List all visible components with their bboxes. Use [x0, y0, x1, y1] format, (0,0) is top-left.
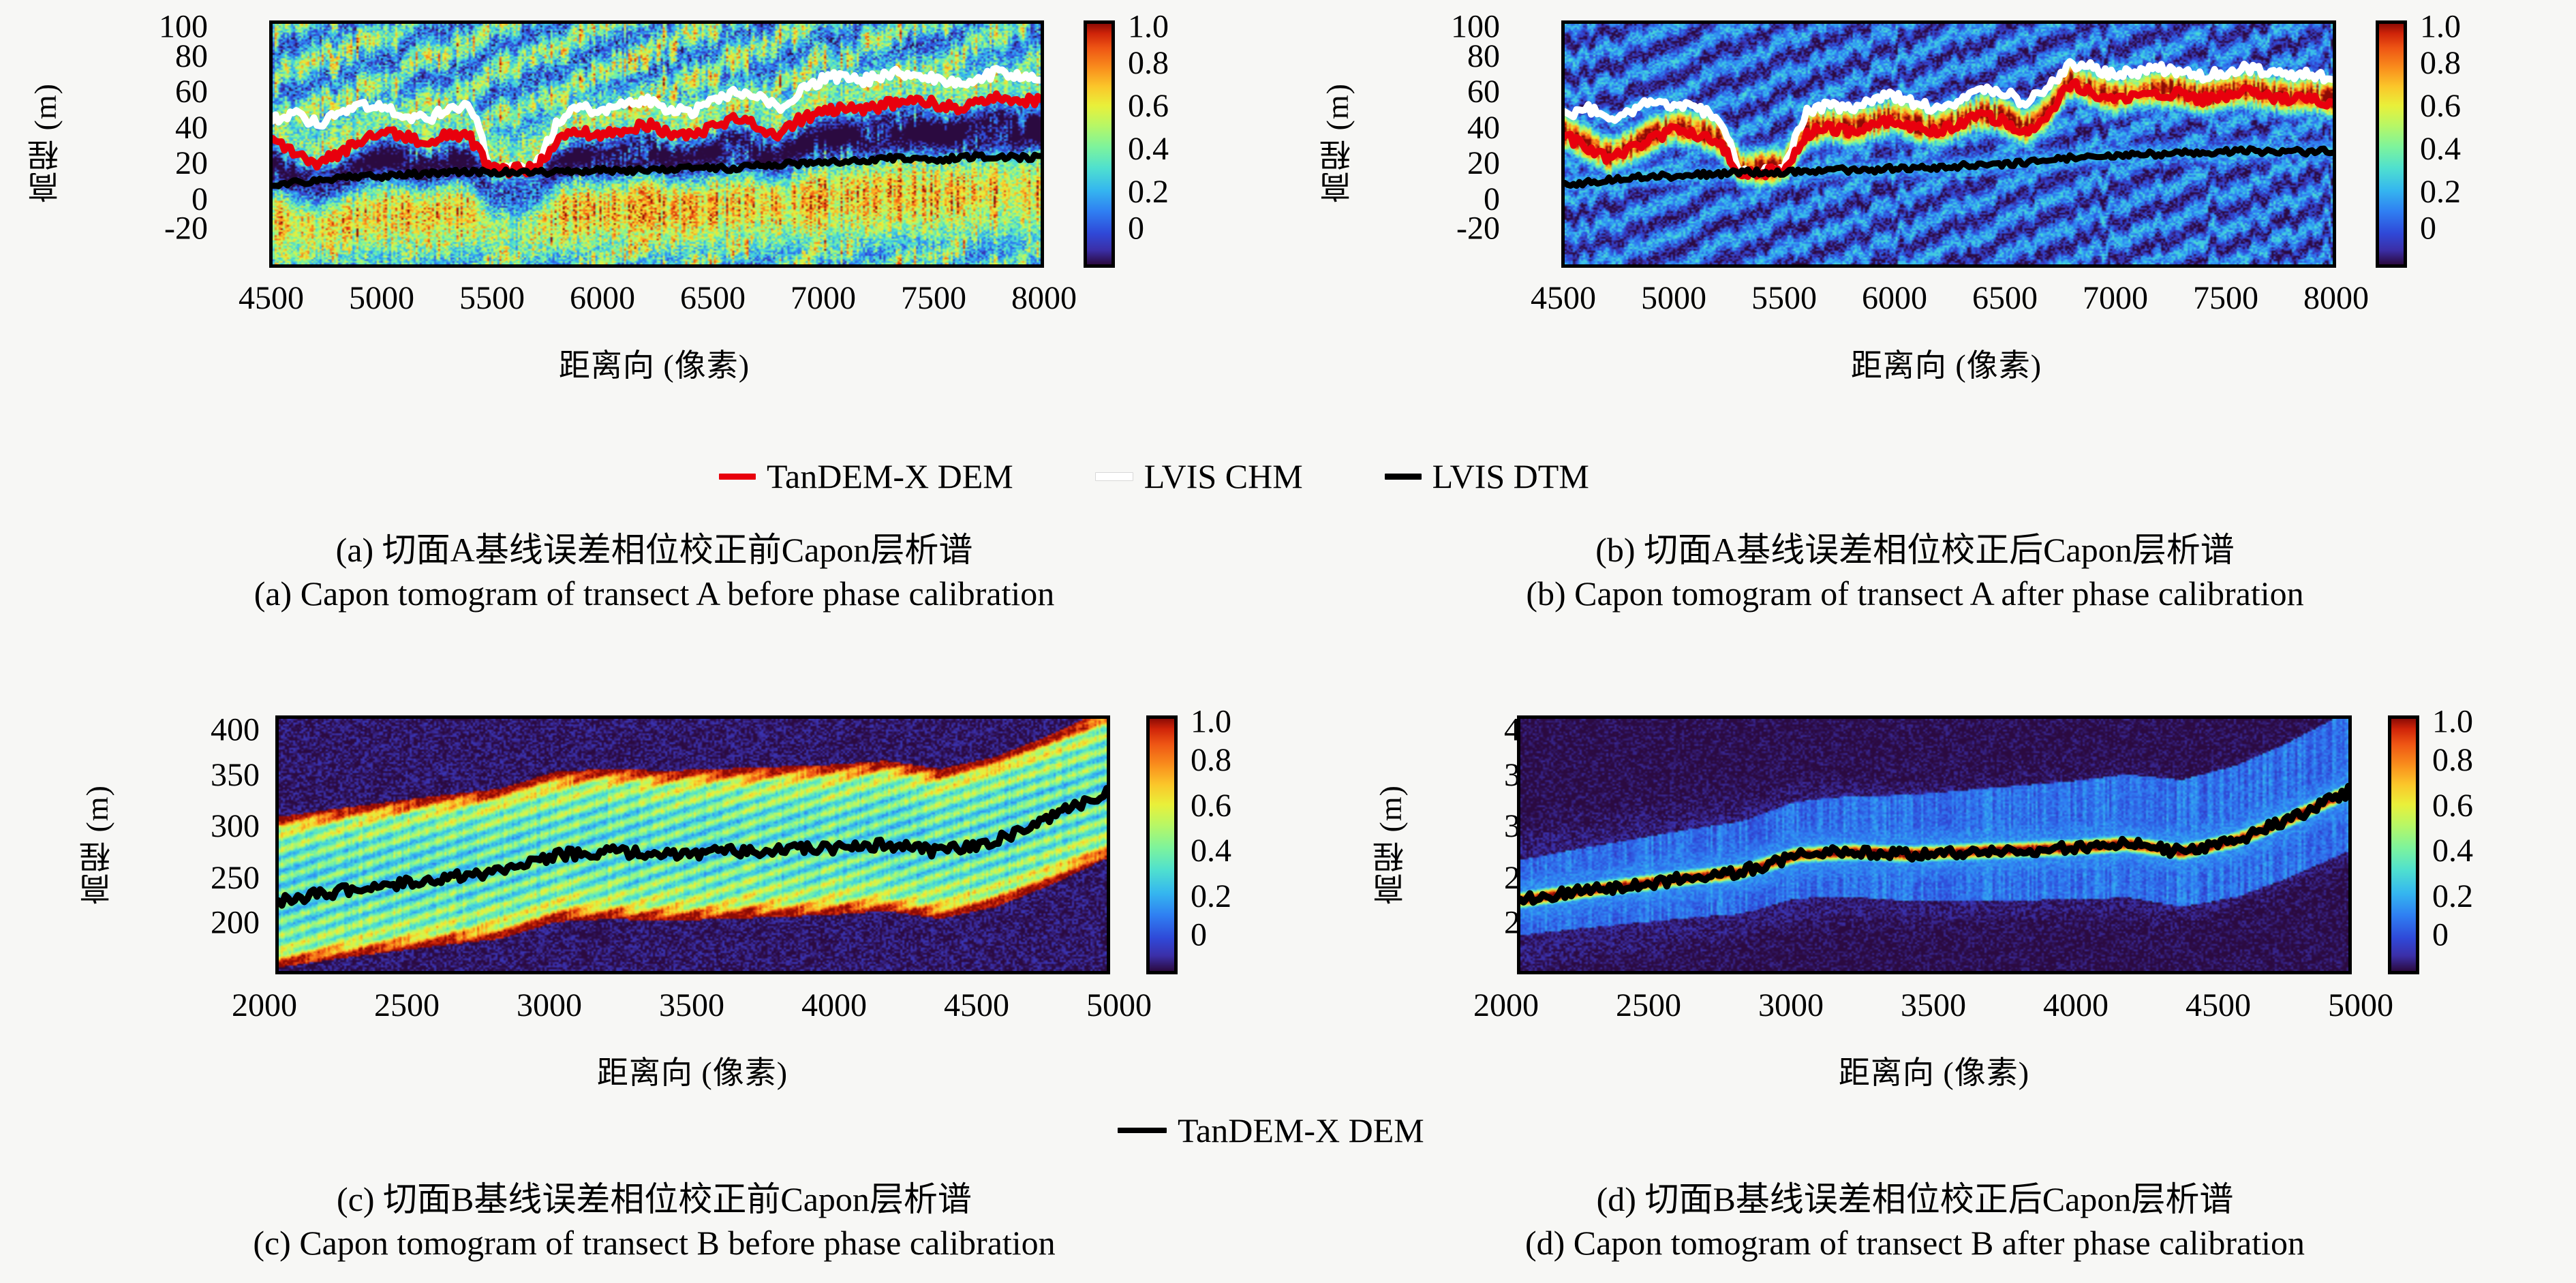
panel-b-cb-tick-3: 0.4 [2420, 133, 2461, 166]
panel-b-x-tick-6: 7500 [2193, 279, 2258, 317]
panel-d-cb-tick-2: 0.6 [2432, 790, 2473, 822]
panel-b-y-ticks: 100806040200-20 [1381, 20, 1500, 268]
panel-a-cb-tick-1: 0.8 [1128, 47, 1169, 80]
panel-d-x-ticks: 2000250030003500400045005000 [1473, 987, 2393, 1024]
legend-swatch-lvis-dtm [1385, 474, 1422, 480]
panel-a-cb-tick-5: 0 [1128, 212, 1169, 245]
legend-swatch-tandem-x-dem-bottom [1118, 1128, 1167, 1133]
panel-b-colorbar-ticks: 1.00.80.60.40.20 [2420, 20, 2461, 268]
panel-b-y-tick-3: 40 [1467, 112, 1500, 144]
panel-d-cb-tick-0: 1.0 [2432, 706, 2473, 739]
panel-b-cb-tick-5: 0 [2420, 212, 2461, 245]
panel-c-x-tick-4: 4000 [801, 987, 867, 1024]
tomo-d-series-overlay [1520, 719, 2348, 971]
caption-b-cn: (b) 切面A基线误差相位校正后Capon层析谱 [1336, 528, 2494, 572]
panel-b-plot-area[interactable] [1561, 20, 2336, 268]
panel-c-y-tick-4: 200 [211, 906, 260, 939]
panel-c-x-tick-1: 2500 [374, 987, 440, 1024]
panel-a-y-tick-4: 20 [175, 147, 208, 180]
panel-b-colorbar [2376, 20, 2407, 268]
panel-c-x-tick-2: 3000 [517, 987, 582, 1024]
panel-a-y-axis-label: 高程 (m) [23, 41, 68, 245]
panel-b-x-tick-0: 4500 [1531, 279, 1596, 317]
legend-item-tandem-x-dem[interactable]: TanDEM-X DEM [719, 457, 1013, 496]
panel-a-y-ticks: 100806040200-20 [89, 20, 208, 268]
panel-b-y-tick-4: 20 [1467, 147, 1500, 180]
panel-d-plot-area[interactable] [1517, 715, 2352, 974]
panel-c-x-ticks: 2000250030003500400045005000 [232, 987, 1152, 1024]
caption-c: (c) 切面B基线误差相位校正前Capon层析谱 (c) Capon tomog… [75, 1177, 1233, 1265]
legend-item-lvis-dtm[interactable]: LVIS DTM [1385, 457, 1589, 496]
panel-c-cb-tick-5: 0 [1191, 918, 1231, 951]
panel-a-x-tick-1: 5000 [349, 279, 414, 317]
panel-a-x-tick-7: 8000 [1011, 279, 1077, 317]
panel-d-x-tick-1: 2500 [1616, 987, 1681, 1024]
caption-d-cn: (d) 切面B基线误差相位校正后Capon层析谱 [1336, 1177, 2494, 1221]
panel-c-y-tick-1: 350 [211, 759, 260, 792]
panel-b-x-tick-7: 8000 [2303, 279, 2369, 317]
panel-c-y-ticks: 400350300250200 [140, 724, 260, 962]
panel-c-y-tick-0: 400 [211, 714, 260, 747]
legend-bottom: TanDEM-X DEM [1118, 1111, 1424, 1150]
panel-b-cb-tick-1: 0.8 [2420, 47, 2461, 80]
panel-b-y-tick-6: -20 [1456, 212, 1500, 245]
panel-d-x-tick-0: 2000 [1473, 987, 1539, 1024]
legend-swatch-lvis-chm [1095, 472, 1133, 481]
panel-b-y-tick-1: 80 [1467, 40, 1500, 73]
panel-d-cb-tick-1: 0.8 [2432, 744, 2473, 777]
panel-d-x-axis-label: 距离向 (像素) [1661, 1048, 2207, 1093]
caption-d: (d) 切面B基线误差相位校正后Capon层析谱 (d) Capon tomog… [1336, 1177, 2494, 1265]
caption-d-en: (d) Capon tomogram of transect B after p… [1336, 1221, 2494, 1265]
legend-label-lvis-chm: LVIS CHM [1144, 457, 1303, 496]
panel-d-colorbar-ticks: 1.00.80.60.40.20 [2432, 715, 2473, 974]
panel-d-colorbar [2388, 715, 2419, 974]
panel-b-x-tick-3: 6000 [1862, 279, 1927, 317]
legend-item-lvis-chm[interactable]: LVIS CHM [1095, 457, 1303, 496]
legend-top: TanDEM-X DEM LVIS CHM LVIS DTM [719, 457, 1589, 496]
panel-a-cb-tick-0: 1.0 [1128, 11, 1169, 44]
panel-c-plot-area[interactable] [275, 715, 1110, 974]
panel-d-x-tick-5: 4500 [2186, 987, 2251, 1024]
legend-item-tandem-x-dem-bottom[interactable]: TanDEM-X DEM [1118, 1111, 1424, 1150]
panel-a-plot-area[interactable] [269, 20, 1044, 268]
caption-a-cn: (a) 切面A基线误差相位校正前Capon层析谱 [75, 528, 1233, 572]
panel-a-y-tick-6: -20 [164, 212, 208, 245]
panel-c-x-tick-6: 5000 [1086, 987, 1152, 1024]
panel-d-x-tick-4: 4000 [2043, 987, 2109, 1024]
panel-a-x-ticks: 45005000550060006500700075008000 [239, 279, 1077, 317]
panel-a-y-tick-3: 40 [175, 112, 208, 144]
panel-a-x-tick-0: 4500 [239, 279, 304, 317]
figure-root: 高程 (m) 100806040200-20 45005000550060006… [0, 0, 2576, 1283]
caption-b: (b) 切面A基线误差相位校正后Capon层析谱 (b) Capon tomog… [1336, 528, 2494, 615]
tomo-c-series-overlay [279, 719, 1107, 971]
caption-b-en: (b) Capon tomogram of transect A after p… [1336, 572, 2494, 615]
panel-c-x-tick-3: 3500 [659, 987, 724, 1024]
panel-d-x-tick-6: 5000 [2328, 987, 2393, 1024]
legend-label-lvis-dtm: LVIS DTM [1432, 457, 1589, 496]
panel-b-x-tick-1: 5000 [1641, 279, 1706, 317]
panel-a-x-tick-6: 7500 [901, 279, 966, 317]
panel-d-y-axis-label: 高程 (m) [1368, 743, 1413, 947]
panel-a-x-tick-4: 6500 [680, 279, 746, 317]
tomo-a-series-overlay [273, 24, 1041, 264]
panel-a-cb-tick-3: 0.4 [1128, 133, 1169, 166]
panel-a-colorbar [1084, 20, 1115, 268]
panel-c-cb-tick-2: 0.6 [1191, 790, 1231, 822]
panel-c-cb-tick-3: 0.4 [1191, 835, 1231, 867]
panel-c-x-tick-0: 2000 [232, 987, 297, 1024]
panel-b-y-tick-2: 60 [1467, 76, 1500, 108]
panel-a-x-axis-label: 距离向 (像素) [382, 341, 927, 386]
series-line-tandem-x-dem [1520, 786, 2348, 902]
panel-c-colorbar-ticks: 1.00.80.60.40.20 [1191, 715, 1231, 974]
legend-label-tandem-x-dem-bottom: TanDEM-X DEM [1178, 1111, 1424, 1150]
panel-d-x-tick-3: 3500 [1901, 987, 1966, 1024]
panel-d-cb-tick-5: 0 [2432, 918, 2473, 951]
panel-c-cb-tick-0: 1.0 [1191, 706, 1231, 739]
series-line-tandem-x-dem [279, 788, 1107, 906]
panel-a-cb-tick-4: 0.2 [1128, 176, 1169, 208]
caption-c-cn: (c) 切面B基线误差相位校正前Capon层析谱 [75, 1177, 1233, 1221]
panel-a-cb-tick-2: 0.6 [1128, 90, 1169, 123]
series-line-lvis-dtm [1565, 149, 2333, 186]
caption-a-en: (a) Capon tomogram of transect A before … [75, 572, 1233, 615]
legend-label-tandem-x-dem: TanDEM-X DEM [767, 457, 1013, 496]
series-line-lvis-dtm [273, 154, 1041, 186]
panel-a-y-tick-1: 80 [175, 40, 208, 73]
panel-c-y-axis-label: 高程 (m) [75, 743, 120, 947]
caption-a: (a) 切面A基线误差相位校正前Capon层析谱 (a) Capon tomog… [75, 528, 1233, 615]
panel-b-cb-tick-4: 0.2 [2420, 176, 2461, 208]
tomo-b-series-overlay [1565, 24, 2333, 264]
panel-a-y-tick-2: 60 [175, 76, 208, 108]
series-line-tandem-x-dem [1565, 82, 2333, 177]
panel-b-x-tick-4: 6500 [1972, 279, 2038, 317]
panel-b-cb-tick-0: 1.0 [2420, 11, 2461, 44]
panel-b-cb-tick-2: 0.6 [2420, 90, 2461, 123]
panel-c-y-tick-2: 300 [211, 810, 260, 843]
legend-swatch-tandem-x-dem [719, 474, 756, 480]
series-line-lvis-chm [1565, 61, 2333, 174]
panel-c-x-axis-label: 距离向 (像素) [420, 1048, 965, 1093]
panel-a-x-tick-2: 5500 [459, 279, 525, 317]
panel-a-x-tick-5: 7000 [791, 279, 856, 317]
panel-a-colorbar-ticks: 1.00.80.60.40.20 [1128, 20, 1169, 268]
panel-b-x-tick-5: 7000 [2083, 279, 2148, 317]
panel-b-x-tick-2: 5500 [1751, 279, 1817, 317]
panel-d-x-tick-2: 3000 [1758, 987, 1824, 1024]
panel-c-y-tick-3: 250 [211, 862, 260, 895]
panel-b-x-axis-label: 距离向 (像素) [1674, 341, 2219, 386]
panel-d-cb-tick-3: 0.4 [2432, 835, 2473, 867]
panel-b-x-ticks: 45005000550060006500700075008000 [1531, 279, 2369, 317]
panel-a-x-tick-3: 6000 [570, 279, 635, 317]
panel-c-x-tick-5: 4500 [944, 987, 1009, 1024]
panel-c-cb-tick-4: 0.2 [1191, 880, 1231, 913]
panel-b-y-axis-label: 高程 (m) [1315, 41, 1360, 245]
caption-c-en: (c) Capon tomogram of transect B before … [75, 1221, 1233, 1265]
panel-c-cb-tick-1: 0.8 [1191, 744, 1231, 777]
panel-d-cb-tick-4: 0.2 [2432, 880, 2473, 913]
panel-c-colorbar [1146, 715, 1178, 974]
